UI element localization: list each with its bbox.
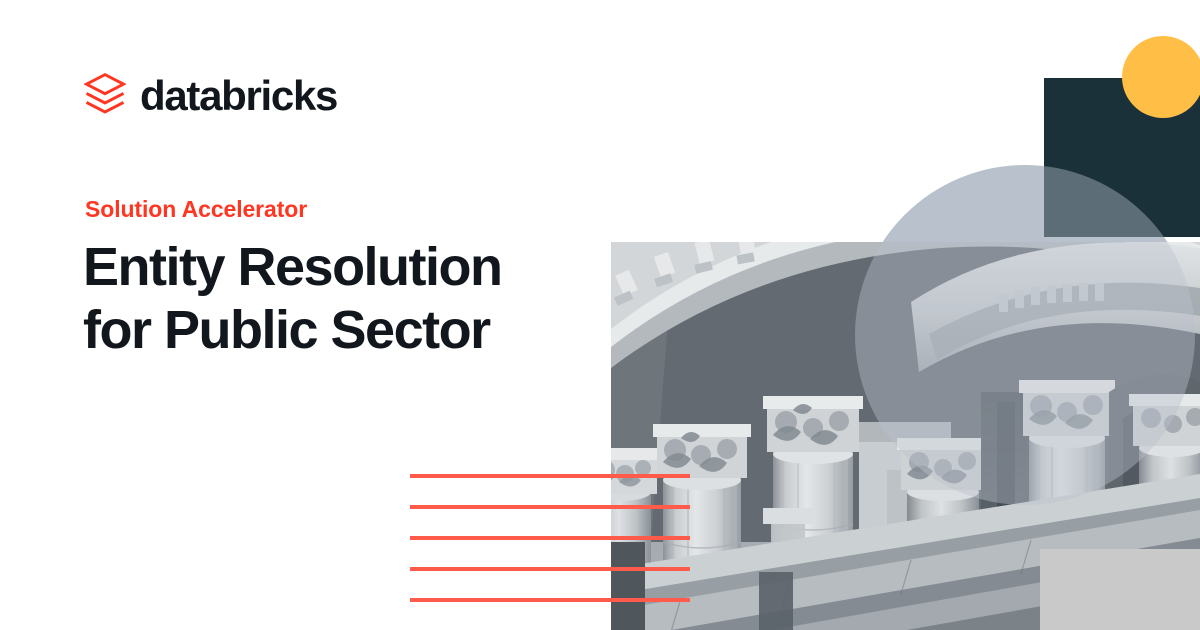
page-title-line-2: for Public Sector: [83, 299, 603, 362]
page-title-line-1: Entity Resolution: [83, 236, 603, 299]
slide-canvas: databricks Solution Accelerator Entity R…: [0, 0, 1200, 630]
eyebrow-label: Solution Accelerator: [85, 196, 307, 223]
page-title: Entity Resolution for Public Sector: [83, 236, 603, 361]
light-gray-rectangle: [1040, 549, 1200, 630]
databricks-wordmark: databricks: [140, 75, 337, 117]
amber-circle: [1122, 36, 1200, 118]
databricks-logo-icon: [84, 72, 126, 120]
databricks-logo[interactable]: databricks: [84, 72, 337, 120]
